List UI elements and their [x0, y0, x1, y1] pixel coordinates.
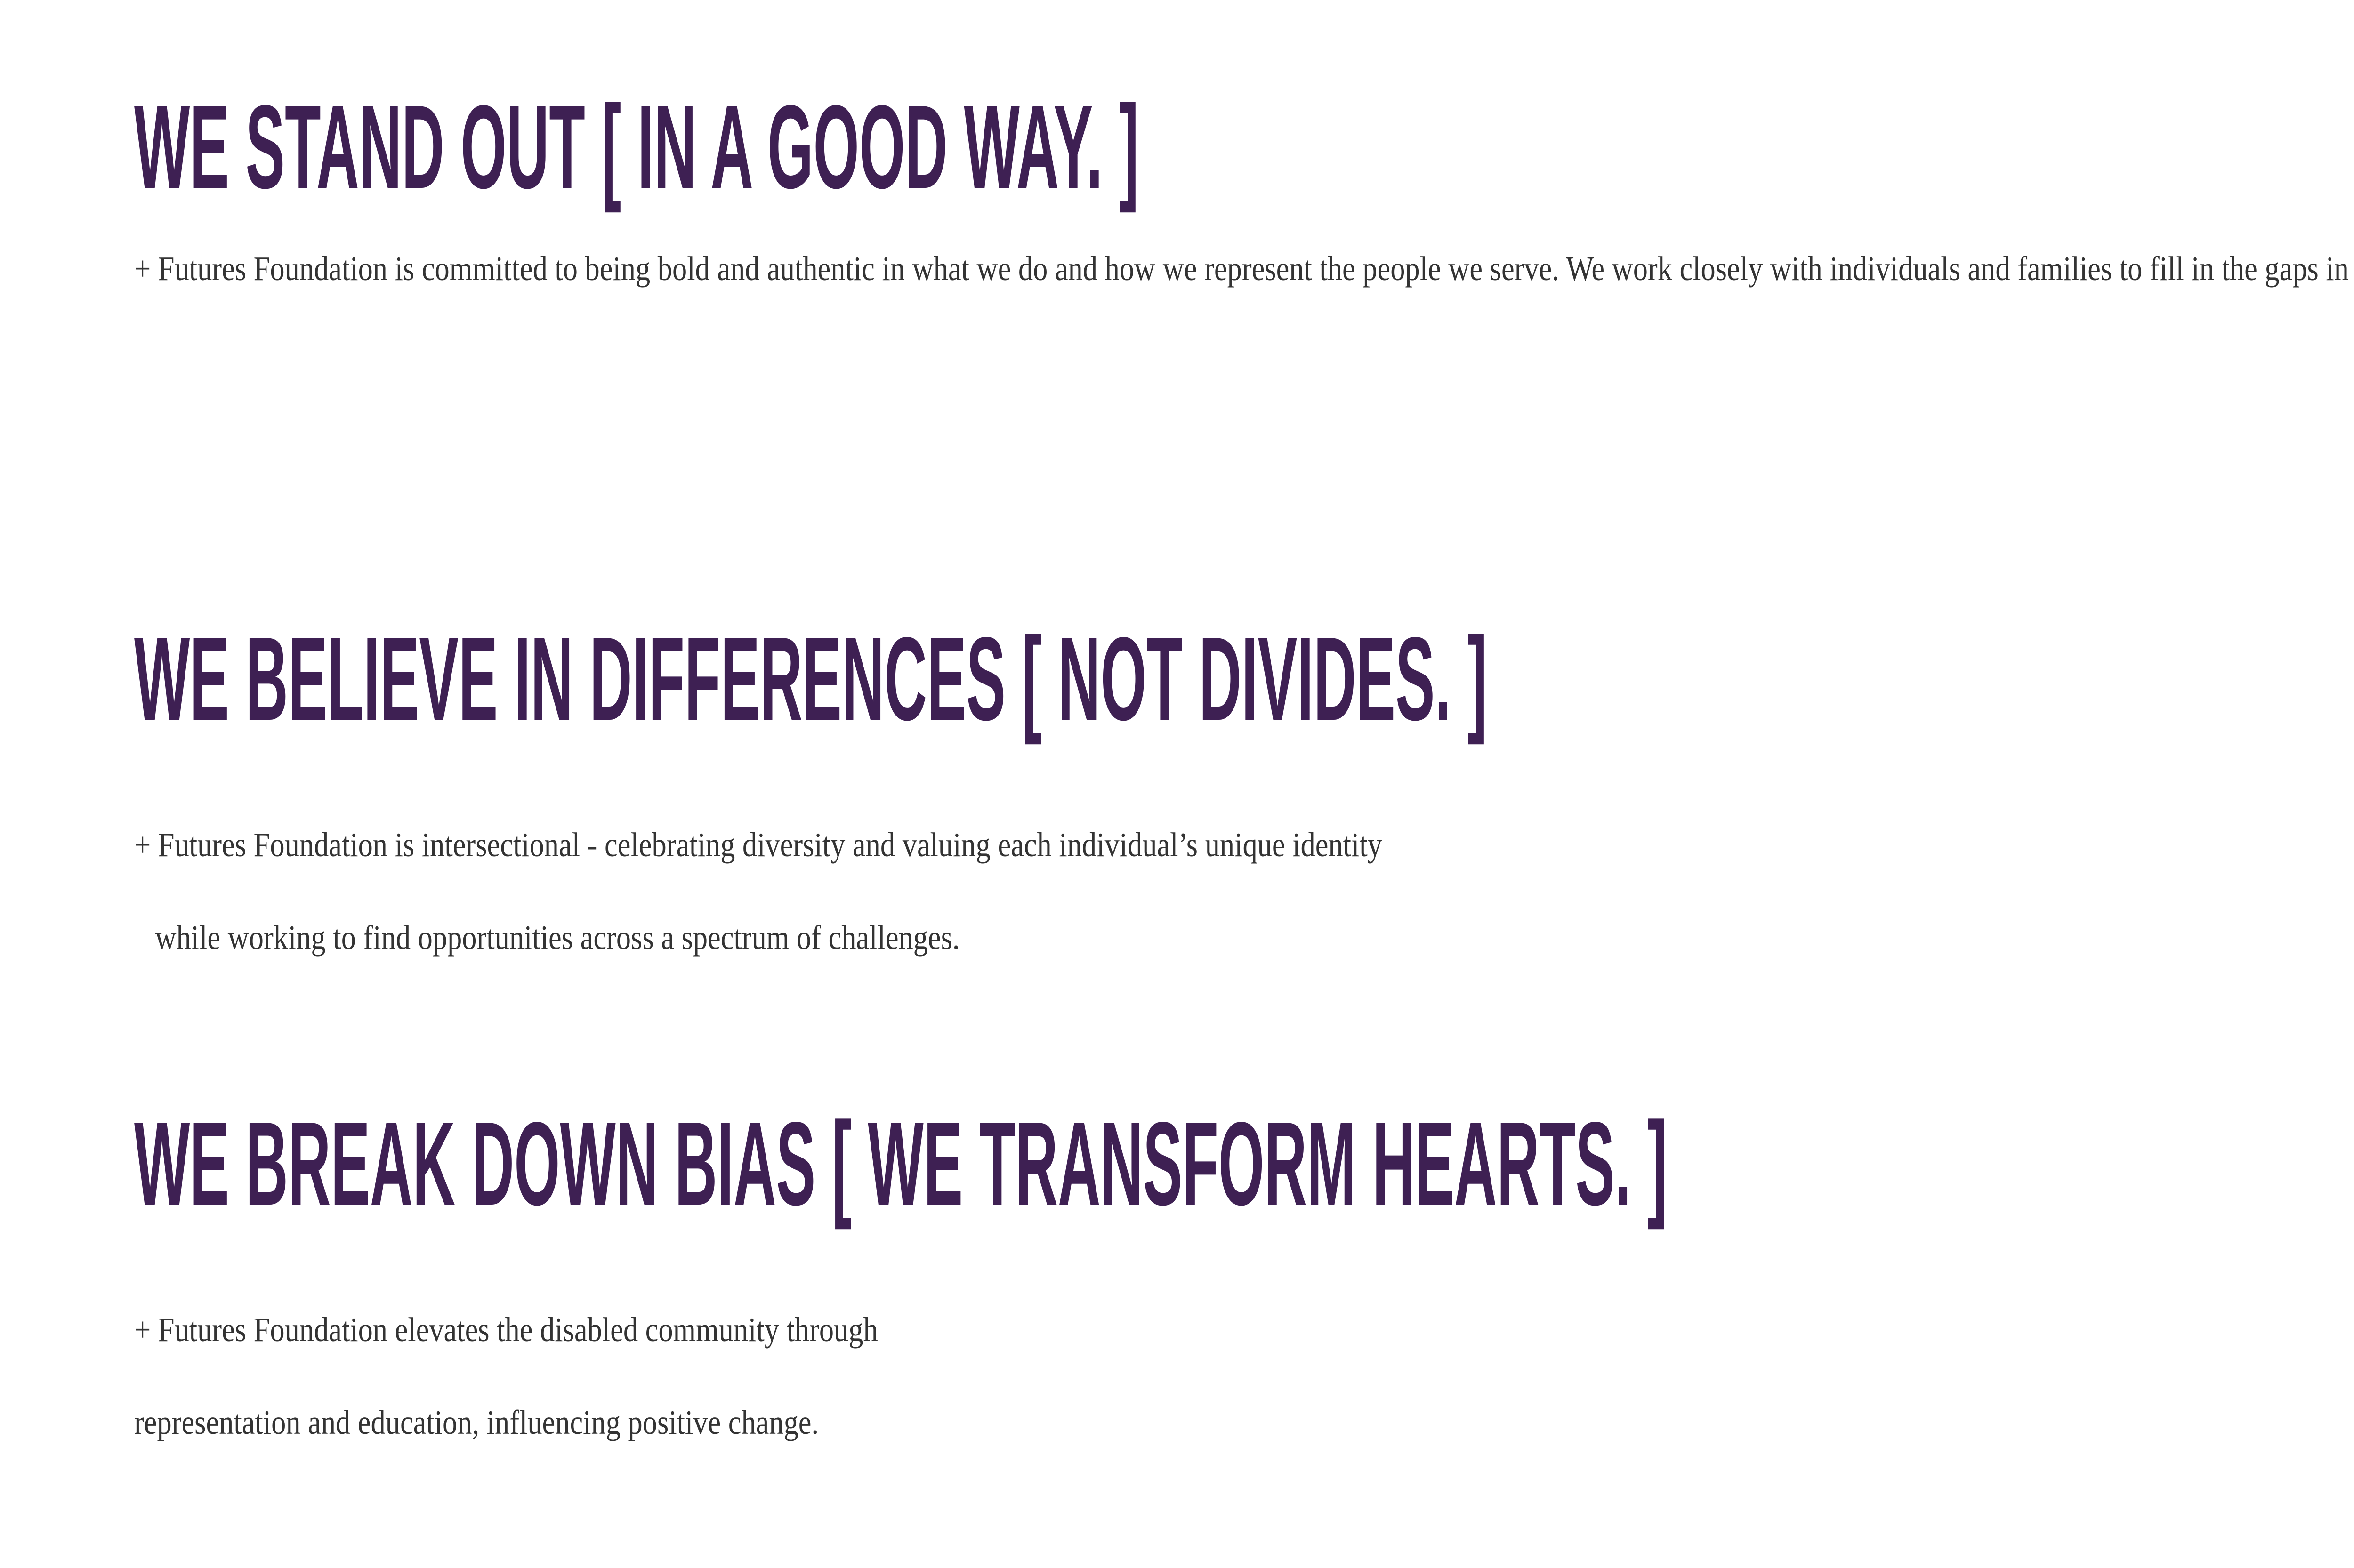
value-body-line-2: representation and education, influencin… [134, 1403, 819, 1441]
value-block-we-believe-in-differences: WE BELIEVE IN DIFFERENCES [ NOT DIVIDES.… [134, 631, 2354, 961]
values-page: WE STAND OUT [ IN A GOOD WAY. ] + Future… [0, 0, 2354, 1568]
value-body-line-1: + Futures Foundation elevates the disabl… [134, 1311, 878, 1349]
value-heading-we-believe-in-differences: WE BELIEVE IN DIFFERENCES [ NOT DIVIDES.… [134, 631, 1487, 728]
value-block-we-break-down-bias: WE BREAK DOWN BIAS [ WE TRANSFORM HEARTS… [134, 1116, 2354, 1446]
value-heading-we-stand-out: WE STAND OUT [ IN A GOOD WAY. ] [134, 99, 1709, 196]
value-body-line-1: + Futures Foundation is intersectional -… [134, 826, 1382, 864]
value-body-line-2: while working to find opportunities acro… [155, 918, 959, 957]
value-heading-we-break-down-bias: WE BREAK DOWN BIAS [ WE TRANSFORM HEARTS… [134, 1116, 1667, 1213]
value-block-we-stand-out: WE STAND OUT [ IN A GOOD WAY. ] + Future… [134, 99, 2354, 292]
value-body-we-break-down-bias: + Futures Foundation elevates the disabl… [134, 1260, 2354, 1447]
value-body-we-stand-out: + Futures Foundation is committed to bei… [134, 246, 2354, 292]
value-body-we-believe-in-differences: + Futures Foundation is intersectional -… [134, 775, 2354, 962]
